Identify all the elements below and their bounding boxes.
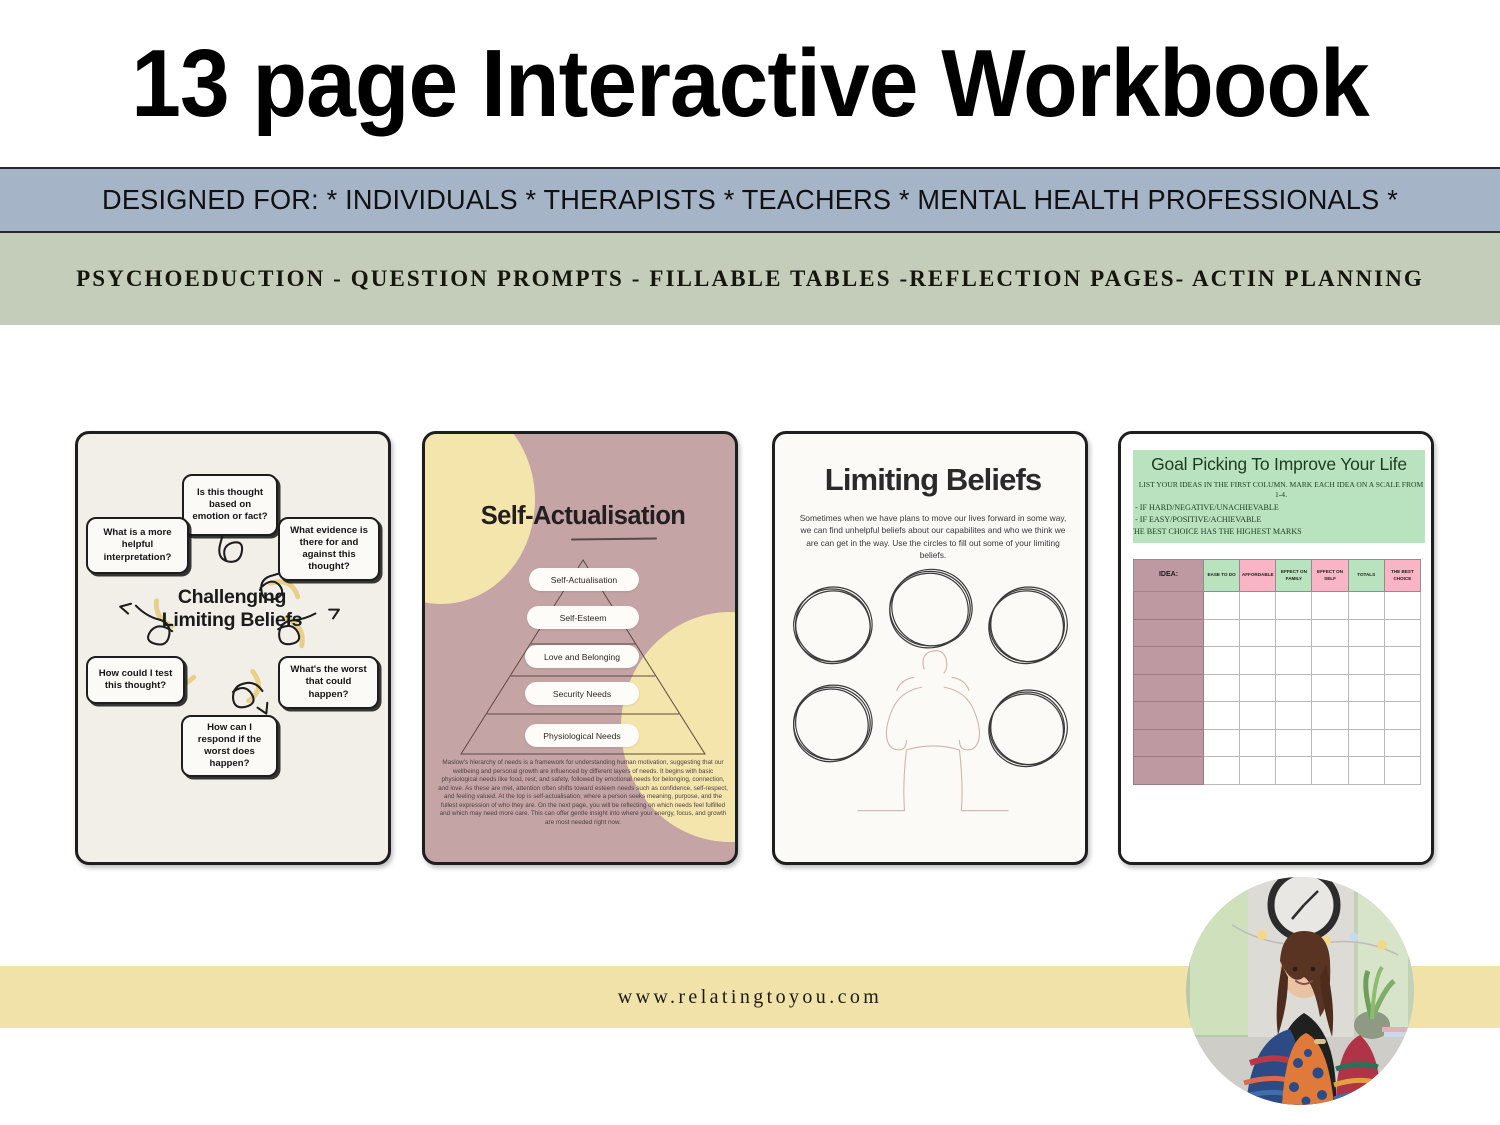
cell-score[interactable] [1384, 702, 1420, 730]
cell-score[interactable] [1384, 592, 1420, 620]
cell-score[interactable] [1348, 592, 1384, 620]
page2-paragraph: Maslow's hierarchy of needs is a framewo… [438, 759, 728, 828]
pyramid-level-self-actualisation[interactable]: Self-Actualisation [529, 568, 639, 591]
cell-score[interactable] [1384, 619, 1420, 647]
pyramid-level-love-and-belonging[interactable]: Love and Belonging [525, 645, 639, 668]
column-header-the-best-choice: THE BEST CHOICE [1384, 560, 1420, 592]
bubble-emotion-or-fact[interactable]: Is this thought based on emotion or fact… [182, 474, 278, 536]
pyramid-level-physiological-needs[interactable]: Physiological Needs [525, 724, 639, 747]
cell-score[interactable] [1348, 729, 1384, 757]
workbook-page-challenging-limiting-beliefs[interactable]: Is this thought based on emotion or fact… [75, 431, 391, 865]
page1-content: Is this thought based on emotion or fact… [78, 434, 388, 862]
cell-idea[interactable] [1134, 702, 1204, 730]
table-row[interactable] [1134, 729, 1421, 757]
pyramid-level-self-esteem[interactable]: Self-Esteem [527, 606, 639, 629]
cell-score[interactable] [1384, 674, 1420, 702]
cell-idea[interactable] [1134, 674, 1204, 702]
cell-score[interactable] [1240, 729, 1276, 757]
page3-content: Limiting Beliefs Sometimes when we have … [775, 434, 1085, 862]
cell-score[interactable] [1204, 647, 1240, 675]
cell-score[interactable] [1312, 674, 1348, 702]
page-title: 13 page Interactive Workbook [53, 34, 1448, 134]
rule-hard: 1 - IF HARD/NEGATIVE/UNACHIEVABLE [1133, 502, 1425, 514]
column-header-idea: IDEA: [1134, 560, 1204, 592]
column-header-totals: TOTALS [1348, 560, 1384, 592]
bubble-evidence-for-against[interactable]: What evidence is there for and against t… [278, 517, 380, 581]
cell-score[interactable] [1204, 702, 1240, 730]
table-row[interactable] [1134, 674, 1421, 702]
bubble-helpful-interpretation[interactable]: What is a more helpful interpretation? [86, 517, 189, 574]
workbook-page-self-actualisation[interactable]: Self-Actualisation Self-Actualisation Se… [422, 431, 738, 865]
cell-score[interactable] [1384, 647, 1420, 675]
page1-center-title: Challenging Limiting Beliefs [146, 586, 318, 632]
audience-band: DESIGNED FOR: * INDIVIDUALS * THERAPISTS… [0, 167, 1500, 233]
cell-score[interactable] [1276, 757, 1312, 785]
cell-score[interactable] [1348, 647, 1384, 675]
cell-score[interactable] [1204, 592, 1240, 620]
author-portrait-photo [1186, 877, 1414, 1105]
features-band: PSYCHOEDUCTION - QUESTION PROMPTS - FILL… [0, 233, 1500, 325]
cell-score[interactable] [1312, 702, 1348, 730]
page2-content: Self-Actualisation Self-Actualisation Se… [425, 434, 735, 862]
cell-idea[interactable] [1134, 729, 1204, 757]
rule-best-choice: THE BEST CHOICE HAS THE HIGHEST MARKS [1133, 526, 1425, 538]
bubble-respond-if-worst-happens[interactable]: How can I respond if the worst does happ… [181, 715, 278, 777]
column-header-ease-to-do: EASE TO DO [1204, 560, 1240, 592]
cell-score[interactable] [1312, 757, 1348, 785]
cell-score[interactable] [1384, 729, 1420, 757]
cell-score[interactable] [1204, 757, 1240, 785]
audience-band-label: DESIGNED FOR: * INDIVIDUALS * THERAPISTS… [102, 184, 1398, 216]
cell-idea[interactable] [1134, 592, 1204, 620]
cell-score[interactable] [1384, 757, 1420, 785]
workbook-page-goal-picking[interactable]: Goal Picking To Improve Your Life LIST Y… [1118, 431, 1434, 865]
column-header-affordable: AFFORDABLE [1240, 560, 1276, 592]
cell-score[interactable] [1276, 647, 1312, 675]
limiting-beliefs-circles-and-figure-icon [775, 434, 1085, 860]
cell-score[interactable] [1348, 757, 1384, 785]
table-body [1134, 592, 1421, 785]
page4-instructions: LIST YOUR IDEAS IN THE FIRST COLUMN. MAR… [1137, 480, 1425, 501]
website-url: www.relatingtoyou.com [618, 986, 883, 1009]
cell-idea[interactable] [1134, 647, 1204, 675]
cell-idea[interactable] [1134, 619, 1204, 647]
column-header-effect-on-self: EFFECT ON SELF [1312, 560, 1348, 592]
pyramid-level-security-needs[interactable]: Security Needs [525, 682, 639, 705]
cell-score[interactable] [1240, 619, 1276, 647]
goal-picking-table[interactable]: IDEA: EASE TO DO AFFORDABLE EFFECT ON FA… [1133, 559, 1421, 785]
cell-score[interactable] [1204, 729, 1240, 757]
cell-score[interactable] [1312, 729, 1348, 757]
page4-rules: 1 - IF HARD/NEGATIVE/UNACHIEVABLE 4 - IF… [1133, 502, 1425, 537]
table-row[interactable] [1134, 757, 1421, 785]
page2-title: Self-Actualisation [425, 502, 738, 531]
cell-score[interactable] [1240, 592, 1276, 620]
workbook-page-limiting-beliefs[interactable]: Limiting Beliefs Sometimes when we have … [772, 431, 1088, 865]
cell-score[interactable] [1276, 674, 1312, 702]
cell-score[interactable] [1312, 592, 1348, 620]
goal-picking-header-block: Goal Picking To Improve Your Life LIST Y… [1133, 450, 1425, 543]
cell-score[interactable] [1204, 674, 1240, 702]
cell-score[interactable] [1240, 674, 1276, 702]
bubble-worst-that-could-happen[interactable]: What's the worst that could happen? [278, 656, 379, 709]
table-header-row: IDEA: EASE TO DO AFFORDABLE EFFECT ON FA… [1134, 560, 1421, 592]
cell-score[interactable] [1276, 592, 1312, 620]
cell-score[interactable] [1240, 647, 1276, 675]
page4-content: Goal Picking To Improve Your Life LIST Y… [1121, 434, 1431, 862]
title-underline-rule [571, 538, 657, 541]
page4-title: Goal Picking To Improve Your Life [1133, 454, 1425, 475]
cell-score[interactable] [1204, 619, 1240, 647]
cell-score[interactable] [1240, 702, 1276, 730]
table-row[interactable] [1134, 702, 1421, 730]
cell-score[interactable] [1276, 729, 1312, 757]
cell-score[interactable] [1312, 647, 1348, 675]
cell-idea[interactable] [1134, 757, 1204, 785]
bubble-test-this-thought[interactable]: How could I test this thought? [86, 656, 185, 704]
cell-score[interactable] [1312, 619, 1348, 647]
rule-easy: 4 - IF EASY/POSITIVE/ACHIEVABLE [1133, 514, 1425, 526]
table-row[interactable] [1134, 592, 1421, 620]
features-band-label: PSYCHOEDUCTION - QUESTION PROMPTS - FILL… [76, 266, 1424, 292]
table-row[interactable] [1134, 647, 1421, 675]
column-header-effect-on-family: EFFECT ON FAMILY [1276, 560, 1312, 592]
table-row[interactable] [1134, 619, 1421, 647]
portrait-illustration-icon [1186, 877, 1414, 1105]
cell-score[interactable] [1348, 674, 1384, 702]
cell-score[interactable] [1240, 757, 1276, 785]
cell-score[interactable] [1348, 619, 1384, 647]
cell-score[interactable] [1348, 702, 1384, 730]
cell-score[interactable] [1276, 619, 1312, 647]
cell-score[interactable] [1276, 702, 1312, 730]
